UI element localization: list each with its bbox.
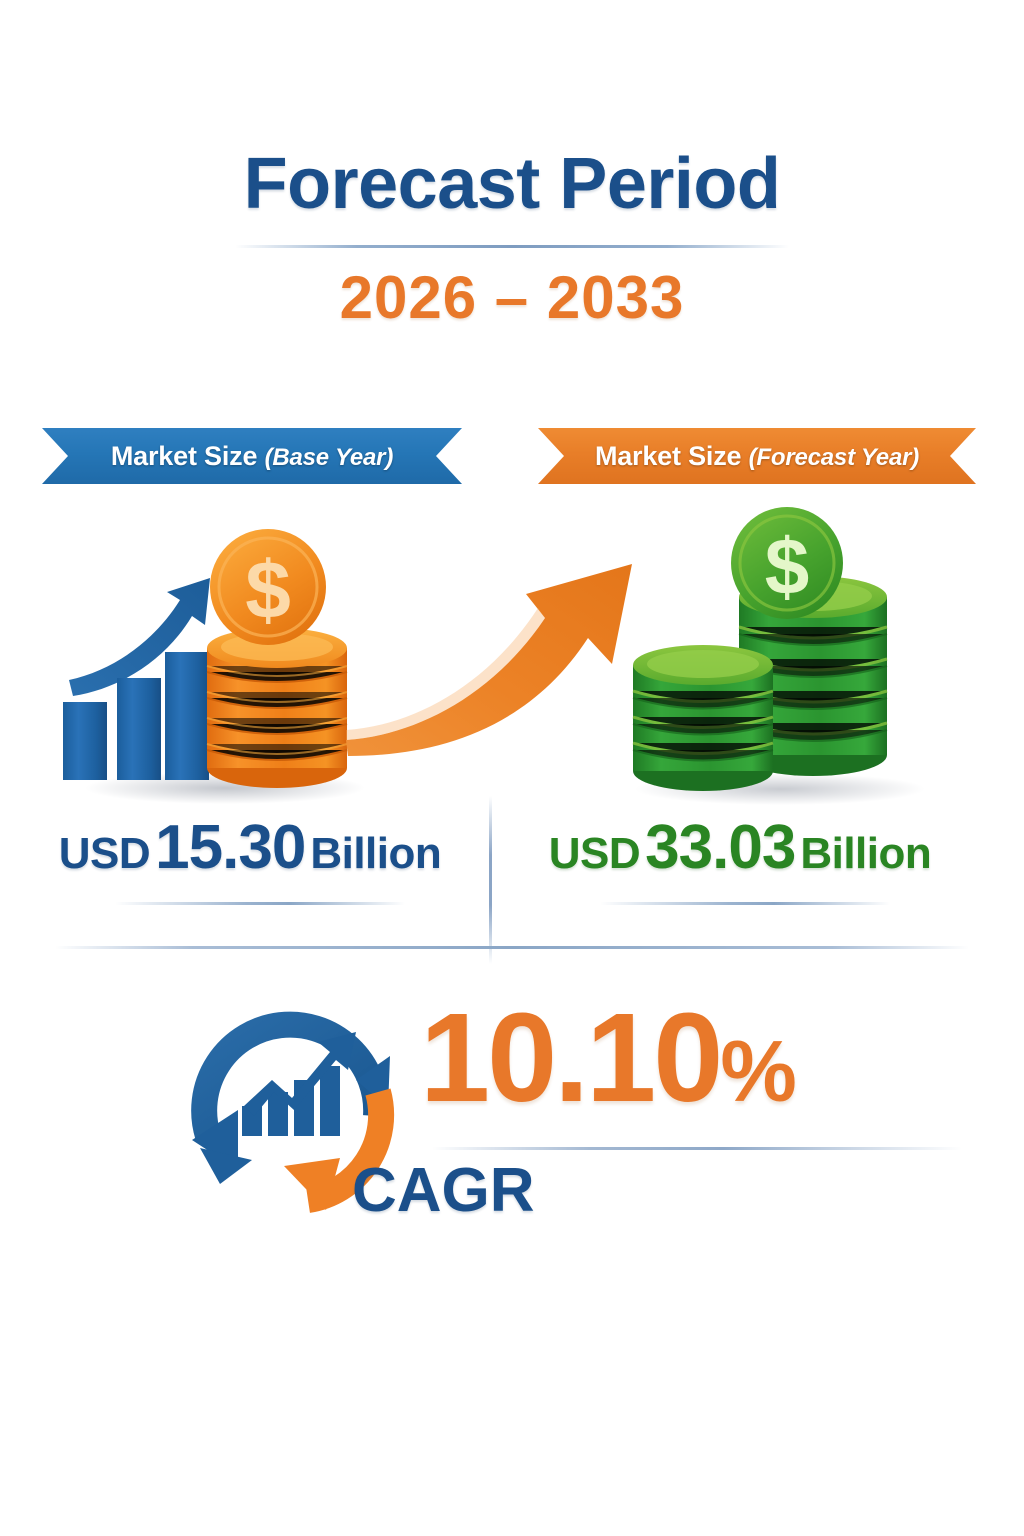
orange-dollar-coin-icon: $ [210, 529, 326, 645]
forecast-amount: 33.03 [640, 812, 800, 883]
cagr-value: 10.10% [420, 995, 795, 1121]
bar-1 [63, 702, 107, 780]
forecast-currency: USD [549, 829, 640, 879]
base-currency: USD [59, 829, 150, 879]
cagr-label: CAGR [352, 1160, 535, 1222]
base-unit: Billion [310, 829, 441, 879]
page-title: Forecast Period [0, 148, 1024, 220]
base-year-market-size-value: USD 15.30 Billion [40, 812, 460, 884]
green-coin-stacks-icon: $ [605, 505, 945, 810]
dollar-sign-glyph: $ [765, 522, 810, 611]
dollar-sign-glyph: $ [245, 545, 291, 636]
green-dollar-coin-icon: $ [731, 507, 843, 619]
ribbon-market-size-base-year: Market Size (Base Year) [42, 428, 462, 484]
infographic-root: Forecast Period 2026 – 2033 Market Size … [0, 0, 1024, 1536]
forecast-unit: Billion [800, 829, 931, 879]
ribbon-forecast-year-main: Market Size [595, 441, 749, 471]
forecast-year-market-size-value: USD 33.03 Billion [520, 812, 960, 884]
forecast-period-range: 2026 – 2033 [0, 268, 1024, 328]
blue-bar-chart-with-orange-coin-stack-icon: $ [55, 520, 385, 810]
base-value-underline [115, 902, 405, 905]
ribbon-base-year-main: Market Size [111, 441, 265, 471]
ribbon-market-size-forecast-year: Market Size (Forecast Year) [538, 428, 976, 484]
section-divider [55, 946, 969, 949]
ribbon-forecast-year-sub: (Forecast Year) [749, 444, 919, 471]
green-coin-stack-short [633, 645, 773, 791]
title-divider [235, 245, 789, 248]
cagr-underline [432, 1147, 962, 1150]
bar-2 [117, 678, 161, 780]
values-vertical-divider [489, 796, 492, 964]
orange-coin-stack-icon [207, 628, 347, 788]
forecast-value-underline [600, 902, 890, 905]
ribbon-base-year-text: Market Size (Base Year) [111, 441, 393, 472]
ribbon-base-year-sub: (Base Year) [265, 444, 394, 471]
base-amount: 15.30 [150, 812, 310, 883]
cagr-number: 10.10 [420, 987, 720, 1128]
ribbon-forecast-year-text: Market Size (Forecast Year) [595, 441, 919, 472]
bar-3 [165, 652, 209, 780]
cagr-percent-symbol: % [720, 1024, 794, 1120]
